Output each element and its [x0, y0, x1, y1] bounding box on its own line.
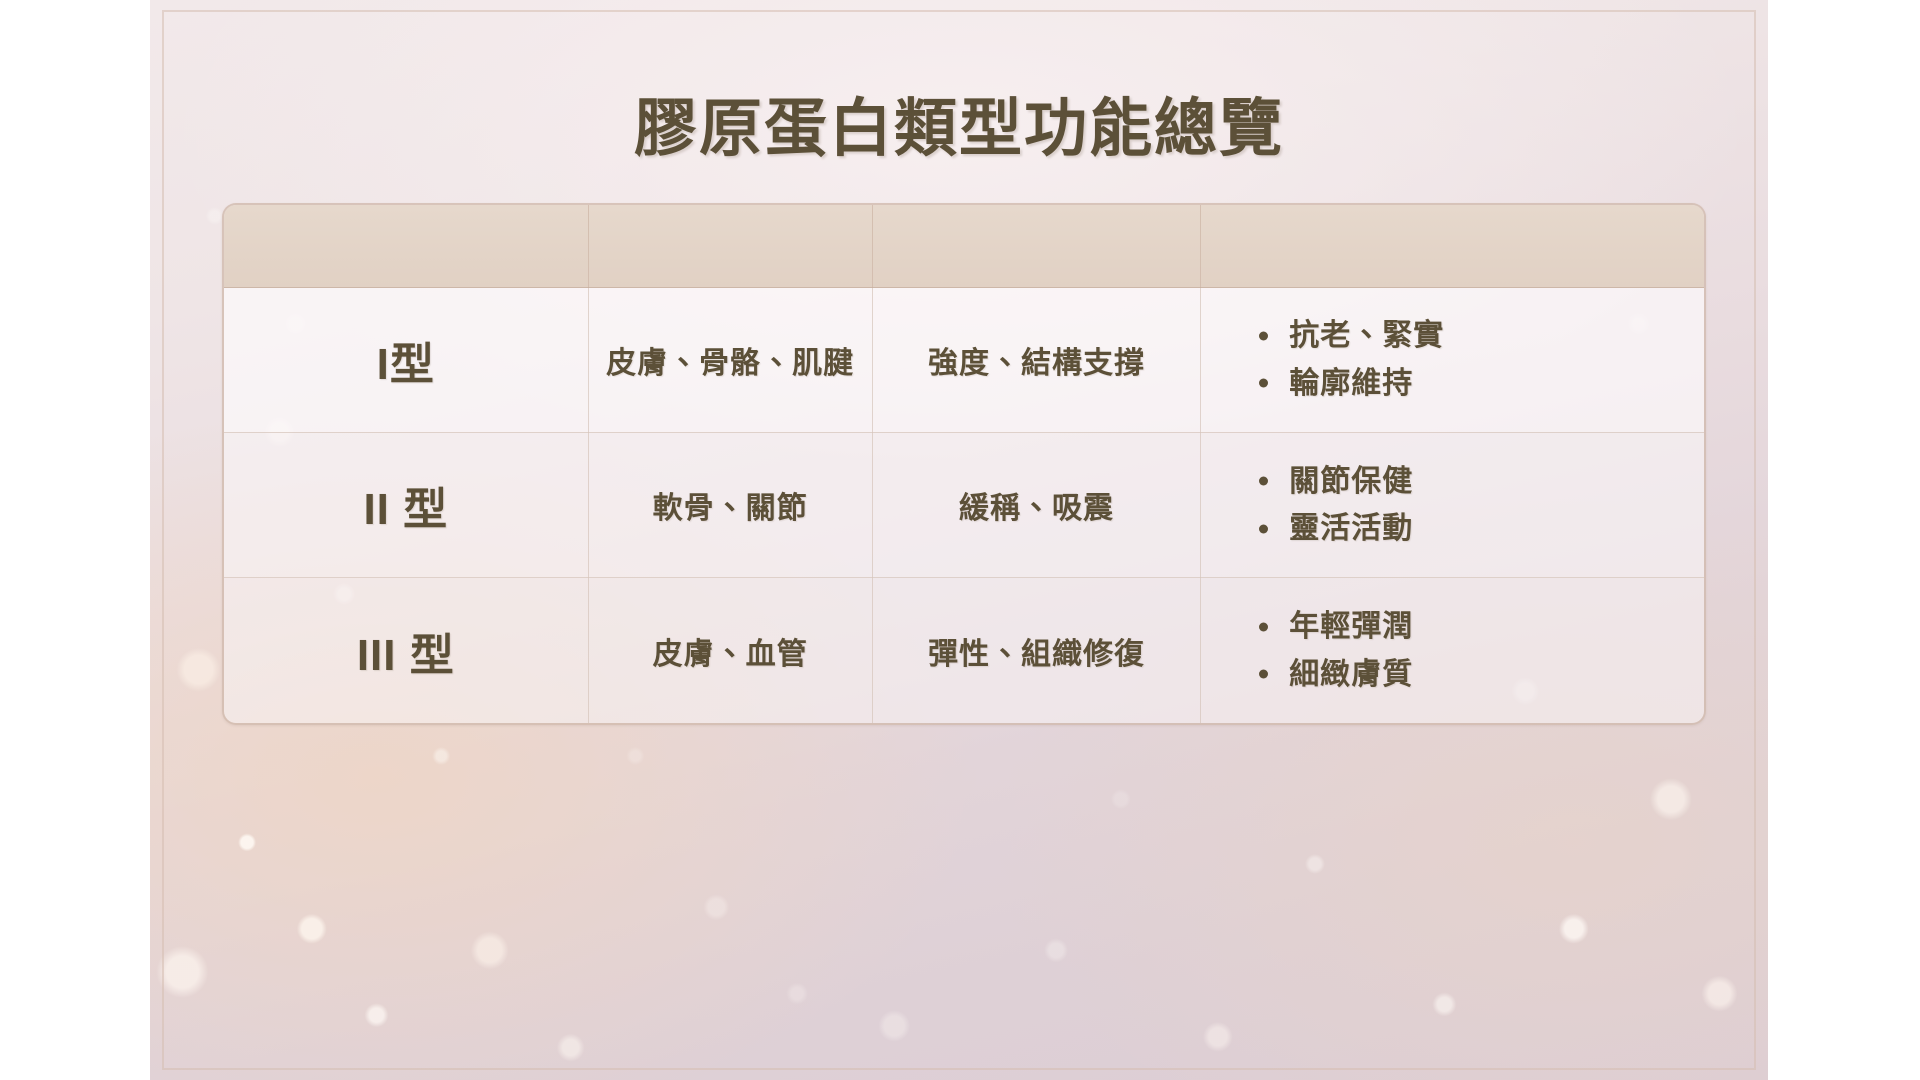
bullet-dot-icon	[1259, 524, 1268, 533]
bullet-dot-icon	[1259, 331, 1268, 340]
bullet-dot-icon	[1259, 622, 1268, 631]
column-header-benefits	[1201, 205, 1704, 287]
benefit-text: 關節保健	[1289, 465, 1413, 498]
cell-tissue: 軟骨、關節	[588, 432, 872, 577]
benefit-list: 年輕彈潤 細緻膚質	[1259, 603, 1688, 698]
benefit-text: 靈活活動	[1289, 512, 1413, 545]
cell-benefits: 關節保健 靈活活動	[1201, 432, 1704, 577]
page-title: 膠原蛋白類型功能總覽	[150, 78, 1768, 169]
list-item: 年輕彈潤	[1259, 603, 1688, 650]
table-row: III 型 皮膚、血管 彈性、組織修復 年輕彈潤 細緻膚質	[224, 578, 1704, 723]
list-item: 細緻膚質	[1259, 651, 1688, 698]
list-item: 抗老、緊實	[1259, 312, 1688, 359]
collagen-table: I型 皮膚、骨骼、肌腱 強度、結構支撐 抗老、緊實 輪廓維持 II 型 軟骨、關…	[224, 205, 1704, 723]
benefit-list: 關節保健 靈活活動	[1259, 458, 1688, 553]
cell-benefits: 抗老、緊實 輪廓維持	[1201, 287, 1704, 432]
column-header-function	[872, 205, 1201, 287]
table-row: I型 皮膚、骨骼、肌腱 強度、結構支撐 抗老、緊實 輪廓維持	[224, 287, 1704, 432]
cell-type: III 型	[224, 578, 588, 723]
slide-page: 膠原蛋白類型功能總覽 I型 皮膚、骨骼、肌	[0, 0, 1920, 1080]
cell-benefits: 年輕彈潤 細緻膚質	[1201, 578, 1704, 723]
column-header-tissue	[588, 205, 872, 287]
cell-tissue: 皮膚、骨骼、肌腱	[588, 287, 872, 432]
cell-tissue: 皮膚、血管	[588, 578, 872, 723]
cell-function: 強度、結構支撐	[872, 287, 1201, 432]
column-header-type	[224, 205, 588, 287]
list-item: 關節保健	[1259, 458, 1688, 505]
list-item: 靈活活動	[1259, 505, 1688, 552]
table-head	[224, 205, 1704, 287]
bullet-dot-icon	[1259, 477, 1268, 486]
benefit-text: 輪廓維持	[1289, 367, 1413, 400]
benefit-text: 抗老、緊實	[1289, 319, 1444, 352]
slide-canvas: 膠原蛋白類型功能總覽 I型 皮膚、骨骼、肌	[150, 0, 1768, 1080]
collagen-table-card: I型 皮膚、骨骼、肌腱 強度、結構支撐 抗老、緊實 輪廓維持 II 型 軟骨、關…	[222, 203, 1706, 725]
list-item: 輪廓維持	[1259, 360, 1688, 407]
cell-type: II 型	[224, 432, 588, 577]
cell-function: 彈性、組織修復	[872, 578, 1201, 723]
table-header-row	[224, 205, 1704, 287]
bullet-dot-icon	[1259, 670, 1268, 679]
table-row: II 型 軟骨、關節 緩稱、吸震 關節保健 靈活活動	[224, 432, 1704, 577]
bullet-dot-icon	[1259, 379, 1268, 388]
benefit-text: 年輕彈潤	[1289, 610, 1413, 643]
cell-type: I型	[224, 287, 588, 432]
benefit-text: 細緻膚質	[1289, 658, 1413, 691]
cell-function: 緩稱、吸震	[872, 432, 1201, 577]
table-body: I型 皮膚、骨骼、肌腱 強度、結構支撐 抗老、緊實 輪廓維持 II 型 軟骨、關…	[224, 287, 1704, 723]
benefit-list: 抗老、緊實 輪廓維持	[1259, 312, 1688, 407]
